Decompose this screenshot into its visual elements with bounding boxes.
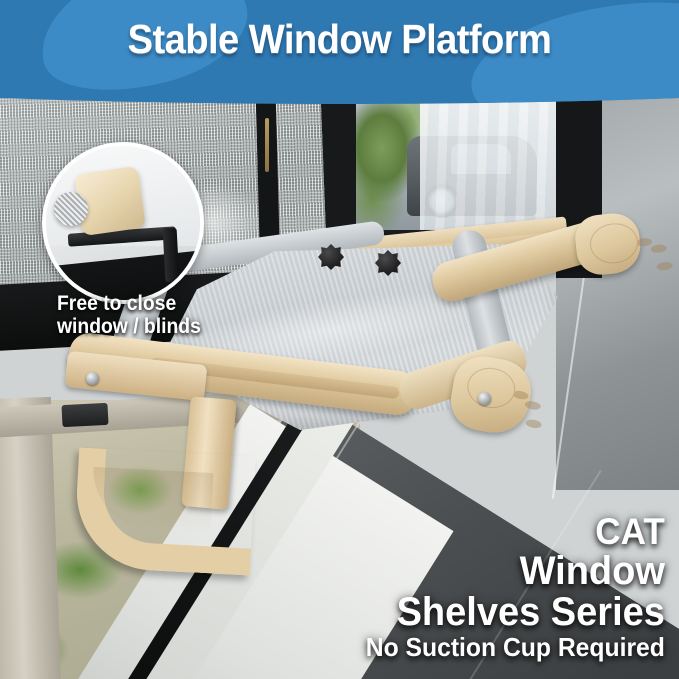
series-line-shelves: Shelves Series (366, 592, 665, 633)
adjustment-knob[interactable] (318, 244, 344, 270)
series-line-no-suction: No Suction Cup Required (366, 634, 665, 661)
product-series-label: CAT Window Shelves Series No Suction Cup… (350, 513, 665, 661)
series-line-window: Window (366, 551, 665, 592)
mounting-screw (86, 372, 99, 385)
callout-line-1: Free to close (57, 293, 259, 316)
page-title: Stable Window Platform (24, 16, 655, 63)
mounting-screw (478, 392, 491, 405)
paw-end-cap-rear (573, 211, 643, 277)
bracket-closeup-inset (42, 142, 204, 304)
inset-textured-spacer (54, 192, 88, 226)
product-marketing-image: Stable Window Platform Free to close win… (0, 0, 679, 679)
series-line-cat: CAT (366, 513, 665, 551)
inset-bracket-vertical (163, 228, 180, 283)
callout-line-2: window / blinds (57, 316, 259, 339)
adjustment-knob[interactable] (375, 250, 401, 276)
feature-callout: Free to close window / blinds (57, 293, 259, 338)
